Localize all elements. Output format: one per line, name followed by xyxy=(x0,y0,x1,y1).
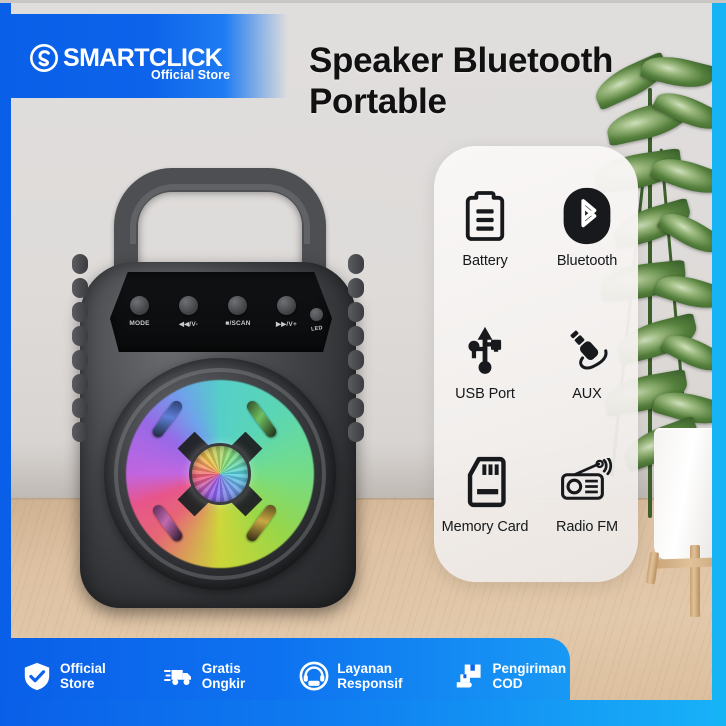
product-image-speaker: MODE ◀◀/V- ■/SCAN ▶▶/V+ LED xyxy=(68,168,368,608)
badge-label: Layanan Responsif xyxy=(337,661,402,691)
badge-official-store: Official Store xyxy=(22,661,106,691)
feature-label: Memory Card xyxy=(442,519,529,535)
brand-subtitle: Official Store xyxy=(151,68,230,82)
badge-free-shipping: Gratis Ongkir xyxy=(164,661,246,691)
memory-card-icon xyxy=(456,451,514,513)
left-edge-accent xyxy=(0,0,11,726)
aux-jack-icon xyxy=(558,318,616,380)
speaker-button-prev-voldown[interactable] xyxy=(179,296,198,315)
feature-item-bluetooth: Bluetooth xyxy=(557,185,617,269)
feature-label: Bluetooth xyxy=(557,253,617,269)
feature-label: Battery xyxy=(462,253,507,269)
bottom-accent-strip xyxy=(0,700,726,726)
feature-grid: Battery Bluetooth xyxy=(434,160,638,560)
feature-item-radio: Radio FM xyxy=(556,451,618,535)
feature-item-memory-card: Memory Card xyxy=(442,451,529,535)
badge-label: Pengiriman COD xyxy=(493,661,567,691)
feature-item-usb: USB Port xyxy=(455,318,515,402)
speaker-driver-cone xyxy=(104,358,336,590)
speaker-label-next: ▶▶/V+ xyxy=(267,320,306,328)
speaker-button-group: MODE ◀◀/V- ■/SCAN ▶▶/V+ LED xyxy=(124,296,320,342)
headline-line-2: Portable xyxy=(309,81,709,122)
badge-responsive-service: Layanan Responsif xyxy=(299,661,402,691)
top-edge-divider xyxy=(0,0,726,3)
trust-badge-list: Official Store Gratis Ongkir L xyxy=(22,652,567,700)
speaker-grip-left xyxy=(72,254,88,444)
led-center-hub xyxy=(189,443,251,505)
feature-item-battery: Battery xyxy=(456,185,514,269)
speaker-grip-right xyxy=(348,254,364,444)
feature-label: USB Port xyxy=(455,386,515,402)
brand-name: SMARTCLICK xyxy=(63,46,222,71)
delivery-truck-icon xyxy=(164,661,194,691)
page-title: Speaker Bluetooth Portable xyxy=(309,40,709,123)
radio-icon xyxy=(558,451,616,513)
feature-label: Radio FM xyxy=(556,519,618,535)
usb-icon xyxy=(456,318,514,380)
plant-stand-leg xyxy=(690,545,700,617)
speaker-label-prev: ◀◀/V- xyxy=(169,320,208,328)
headline-line-1: Speaker Bluetooth xyxy=(309,40,709,81)
feature-item-aux: AUX xyxy=(558,318,616,402)
badge-label: Gratis Ongkir xyxy=(202,661,246,691)
speaker-button-mode[interactable] xyxy=(130,296,149,315)
product-listing-image: SMARTCLICK Official Store Speaker Blueto… xyxy=(0,0,726,726)
badge-label: Official Store xyxy=(60,661,106,691)
speaker-led-indicator xyxy=(310,308,323,321)
badge-cod: Pengiriman COD xyxy=(455,661,567,691)
speaker-label-scan: ■/SCAN xyxy=(216,320,260,327)
right-edge-accent xyxy=(712,0,726,726)
smartclick-s-logo-icon xyxy=(30,44,58,72)
bluetooth-icon xyxy=(558,185,616,247)
feature-label: AUX xyxy=(572,386,602,402)
speaker-button-next-volup[interactable] xyxy=(277,296,296,315)
speaker-button-scan[interactable] xyxy=(228,296,247,315)
shield-check-icon xyxy=(22,661,52,691)
headset-support-icon xyxy=(299,661,329,691)
speaker-handle-highlight xyxy=(130,184,310,244)
hand-package-icon xyxy=(455,661,485,691)
battery-icon xyxy=(456,185,514,247)
speaker-label-mode: MODE xyxy=(120,320,159,327)
